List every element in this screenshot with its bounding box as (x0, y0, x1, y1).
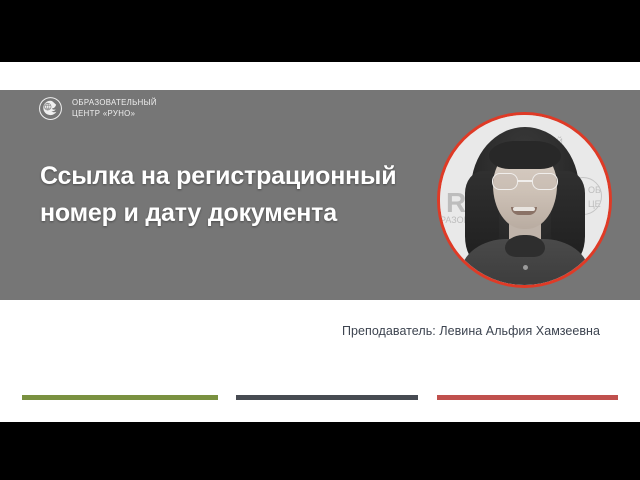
brand-lockup: ОБРАЗОВАТЕЛЬНЫЙ ЦЕНТР «РУНО» (38, 96, 157, 121)
accent-rules (0, 395, 640, 405)
globe-bird-logo-icon (38, 96, 63, 121)
photo-fringe (489, 141, 561, 169)
glasses-icon (492, 173, 558, 190)
page-title: Ссылка на регистрационный номер и дату д… (40, 158, 430, 232)
brand-line-1: ОБРАЗОВАТЕЛЬНЫЙ (72, 98, 157, 109)
presenter-photo (465, 127, 585, 288)
brand-line-2: ЦЕНТР «РУНО» (72, 109, 157, 120)
brand-text: ОБРАЗОВАТЕЛЬНЫЙ ЦЕНТР «РУНО» (72, 98, 157, 119)
accent-rule-dark (236, 395, 418, 400)
accent-rule-green (22, 395, 218, 400)
presenter-portrait: RU РАЗОВАТЕ ЬНЫЙ ОБ ЦЕ (437, 112, 612, 288)
photo-collar (505, 235, 545, 257)
glasses-bridge (518, 180, 532, 182)
slide-canvas: ОБРАЗОВАТЕЛЬНЫЙ ЦЕНТР «РУНО» Ссылка на р… (0, 62, 640, 422)
video-player-frame: ОБРАЗОВАТЕЛЬНЫЙ ЦЕНТР «РУНО» Ссылка на р… (0, 0, 640, 480)
accent-rule-red (437, 395, 618, 400)
letterbox-bottom-bar (0, 422, 640, 480)
presenter-credit: Преподаватель: Левина Альфия Хамзеевна (0, 324, 600, 338)
glasses-lens-left (492, 173, 518, 190)
photo-teeth (513, 207, 535, 211)
glasses-lens-right (532, 173, 558, 190)
photo-pendant (523, 265, 528, 270)
letterbox-top-bar (0, 0, 640, 62)
